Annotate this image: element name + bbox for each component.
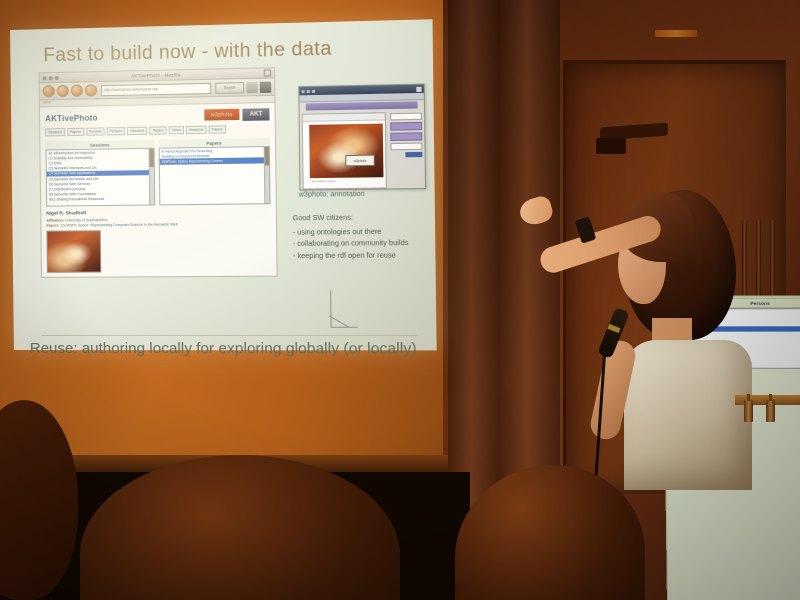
logo-group: w3photo AKT (204, 108, 269, 121)
list-item[interactable]: SE1 Sharing Educational Resources (47, 196, 154, 202)
annotation-field[interactable] (390, 113, 422, 121)
close-icon (416, 86, 421, 91)
annotation-canvas[interactable]: w3photo annotated region (302, 112, 387, 189)
water-bottle (766, 400, 775, 422)
annotation-field[interactable] (390, 143, 422, 151)
annotation-caption: annotated region (312, 179, 336, 183)
detail-paper-label: Papers: (46, 224, 59, 228)
web-page-content: AKTivePhoto w3photo AKT Sessions Papers … (40, 103, 277, 277)
slide-title: Fast to build now - with the data (43, 38, 332, 67)
annotation-sidebar (388, 109, 425, 190)
page-header: AKTivePhoto w3photo AKT (45, 108, 270, 124)
detail-paper-row: Papers: CS W3Pic Space: Representing Com… (46, 222, 270, 228)
photo-thumbnail[interactable] (46, 230, 101, 273)
person-detail: Nigel R. Shadbolt Affiliation: Universit… (46, 209, 271, 273)
stop-icon[interactable] (85, 84, 97, 96)
list-item-selected[interactable]: W3Photo: Space Representing Commu (160, 158, 269, 165)
bullet-item: - using ontologies out there (293, 226, 430, 239)
nav-tab[interactable]: Sessions (127, 127, 147, 135)
nav-tabs[interactable]: Sessions Papers Persons Persons Sessions… (45, 125, 269, 137)
bookmarks-icon[interactable] (260, 81, 272, 92)
presenter (590, 190, 760, 490)
forward-icon[interactable] (57, 85, 69, 97)
annotation-toolbar[interactable] (303, 113, 385, 122)
browser-window: AKTivePhoto - Mozilla http://www.photo.a… (39, 67, 278, 278)
papers-list[interactable]: A Hybrid Approach for Searching Building… (159, 146, 271, 205)
sessions-list[interactable]: A1 Infrastructure for Inspection C1 Usab… (45, 148, 155, 207)
good-sw-citizens-block: Good SW citizens: - using ontologies out… (293, 212, 431, 263)
ceiling-light-strip (655, 30, 697, 37)
nav-tab[interactable]: Papers (208, 125, 225, 133)
w3photo-logo[interactable]: w3photo (204, 109, 239, 121)
scrollbar[interactable] (148, 149, 154, 205)
nav-tab[interactable]: Papers (149, 126, 166, 134)
detail-paper-value[interactable]: CS W3Pic Space: Representing Computer Sc… (61, 222, 178, 227)
presenter-torso (624, 340, 752, 490)
akt-logo[interactable]: AKT (242, 108, 269, 121)
nav-tab[interactable]: Persons (107, 127, 126, 135)
annotation-apply-button[interactable] (405, 152, 422, 157)
detail-affiliation-label: Affiliation: (46, 218, 64, 222)
detail-affiliation-value: University of Southampton (65, 218, 108, 222)
nav-tab[interactable]: Papers (67, 128, 84, 136)
bullet-item: - collaborating on community builds (293, 238, 430, 251)
pointer-arrow-icon (320, 291, 360, 334)
annotated-photo[interactable] (309, 124, 383, 179)
nav-tab[interactable]: Sessions (186, 126, 206, 134)
scrollbar[interactable] (264, 147, 270, 203)
address-bar[interactable]: http://www.photo.aktivespace.org (101, 82, 211, 95)
close-icon[interactable] (264, 69, 271, 76)
nav-tab[interactable]: Sessions (45, 128, 65, 136)
presentation-slide: Fast to build now - with the data AKTive… (10, 19, 437, 350)
projection-screen: Fast to build now - with the data AKTive… (10, 19, 437, 350)
back-icon[interactable] (43, 85, 55, 97)
app-title: AKTivePhoto (45, 113, 98, 123)
nav-tab[interactable]: Persons (86, 127, 105, 135)
facet-columns: Sessions A1 Infrastructure for Inspectio… (45, 138, 270, 207)
good-sw-citizens-heading: Good SW citizens: (293, 212, 430, 225)
water-bottle (744, 400, 753, 422)
slide-footer-text: Reuse: authoring locally for exploring g… (30, 340, 417, 358)
annotation-selected-item[interactable] (390, 122, 422, 131)
column-papers: Papers A Hybrid Approach for Searching B… (159, 138, 271, 206)
search-button[interactable]: Search (215, 82, 244, 94)
annotation-label-box[interactable]: w3photo (345, 155, 375, 167)
annotation-selected-item[interactable] (390, 132, 422, 141)
conference-room-photo: Fast to build now - with the data AKTive… (0, 0, 800, 600)
door-closer-body (596, 138, 626, 154)
annotation-figure-caption: w3photo: annotation (299, 191, 365, 199)
column-sessions: Sessions A1 Infrastructure for Inspectio… (45, 140, 155, 207)
bullet-item: - keeping the rdf open for reuse (293, 250, 430, 263)
nav-tab[interactable]: Times (169, 126, 185, 134)
annotation-window-body: w3photo annotated region (300, 109, 425, 191)
slide-divider (42, 335, 418, 336)
browser-window-title: AKTivePhoto - Mozilla (40, 70, 275, 80)
annotation-tool-window: w3photo annotated region (298, 84, 426, 191)
print-icon[interactable] (246, 81, 258, 92)
reload-icon[interactable] (71, 85, 83, 97)
